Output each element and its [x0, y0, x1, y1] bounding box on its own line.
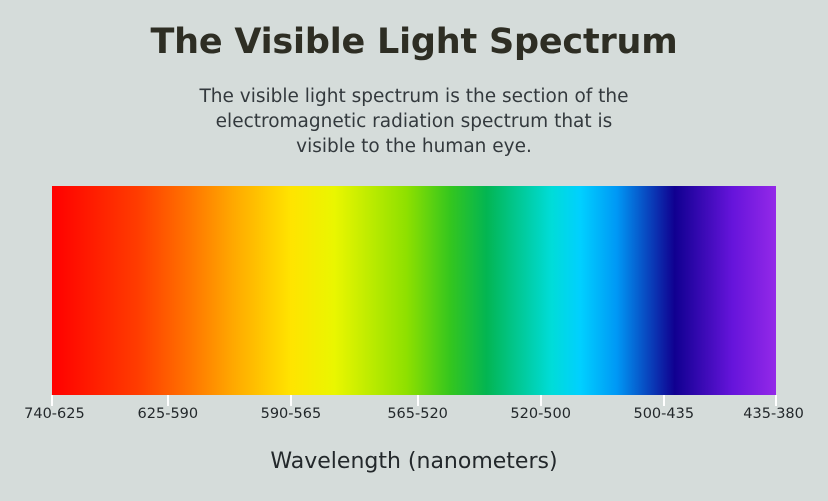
x-axis-tick-label: 565-520: [387, 404, 448, 424]
x-axis-tick-label: 740-625: [24, 404, 85, 424]
page-title: The Visible Light Spectrum: [0, 20, 828, 64]
x-axis-tick-labels: 740-625625-590590-565565-520520-500500-4…: [52, 404, 776, 426]
subtitle-line-2: electromagnetic radiation spectrum that …: [114, 109, 714, 134]
spectrum-gradient-bar: [52, 186, 776, 395]
x-axis-tick-label: 625-590: [138, 404, 199, 424]
subtitle-line-1: The visible light spectrum is the sectio…: [114, 84, 714, 109]
x-axis-tick-label: 520-500: [510, 404, 571, 424]
x-axis-tick-label: 590-565: [261, 404, 322, 424]
x-axis-tick-label: 435-380: [743, 404, 804, 424]
subtitle-line-3: visible to the human eye.: [114, 134, 714, 159]
spectrum-bar-container: [52, 186, 776, 395]
x-axis-title: Wavelength (nanometers): [0, 447, 828, 477]
x-axis-tick-label: 500-435: [633, 404, 694, 424]
figure-subtitle: The visible light spectrum is the sectio…: [114, 84, 714, 159]
visible-light-spectrum-figure: The Visible Light Spectrum The visible l…: [0, 0, 828, 501]
